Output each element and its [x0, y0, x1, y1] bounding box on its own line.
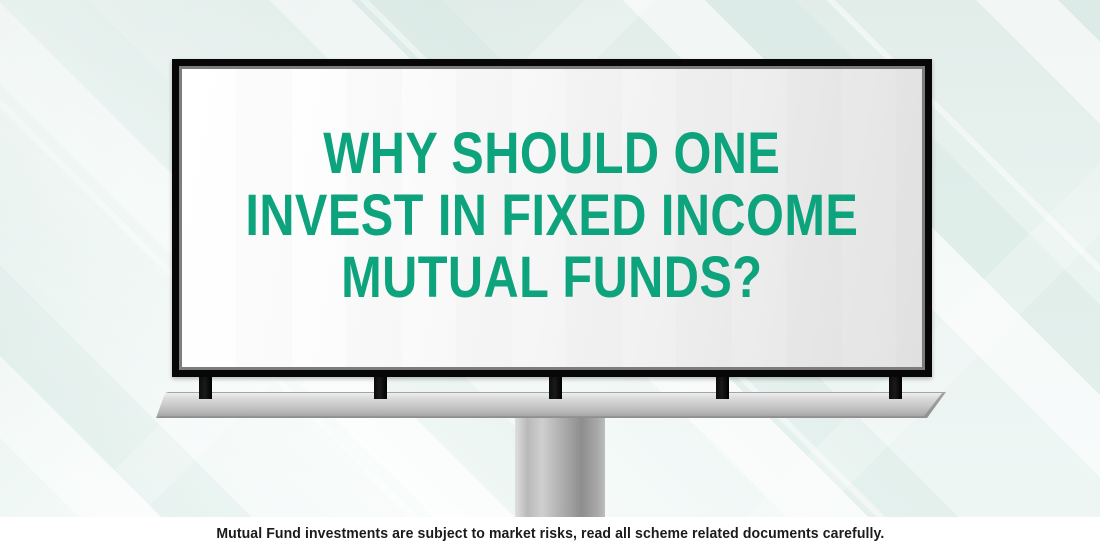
billboard-frame: WHY SHOULD ONE INVEST IN FIXED INCOME MU…	[172, 59, 932, 377]
billboard-strut	[716, 375, 729, 399]
billboard-scene: WHY SHOULD ONE INVEST IN FIXED INCOME MU…	[0, 0, 1100, 550]
headline-line-1: WHY SHOULD ONE	[246, 123, 859, 185]
headline: WHY SHOULD ONE INVEST IN FIXED INCOME MU…	[246, 123, 859, 309]
billboard-strut	[199, 375, 212, 399]
billboard-panel: WHY SHOULD ONE INVEST IN FIXED INCOME MU…	[182, 69, 922, 367]
disclaimer-text: Mutual Fund investments are subject to m…	[216, 526, 884, 542]
disclaimer-bar: Mutual Fund investments are subject to m…	[0, 517, 1100, 550]
billboard-strut	[549, 375, 562, 399]
billboard-strut	[889, 375, 902, 399]
billboard-strut	[374, 375, 387, 399]
headline-line-2: INVEST IN FIXED INCOME	[246, 185, 859, 247]
headline-line-3: MUTUAL FUNDS?	[246, 247, 859, 309]
